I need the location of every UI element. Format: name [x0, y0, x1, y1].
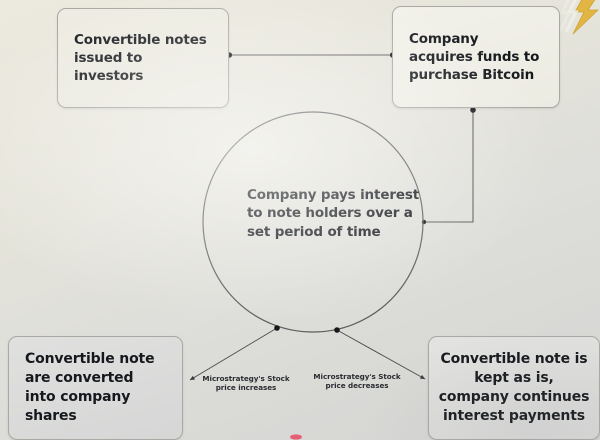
node-company-pays-interest[interactable]: Company pays interest to note holders ov…: [247, 186, 422, 241]
connector-dot-topright-bottom: [470, 107, 476, 113]
node-note-kept-as-is[interactable]: Convertible note is kept as is, company …: [428, 336, 600, 440]
edge-label-stock-price-increases: Microstrategy's Stock price increases: [197, 374, 295, 392]
connector-circle-to-bottomleft: [190, 328, 277, 380]
connector-dot-circle-bottomright: [334, 327, 340, 333]
node-company-acquires-funds[interactable]: Company acquires funds to purchase Bitco…: [392, 6, 560, 108]
node-convertible-notes-issued[interactable]: Convertible notes issued to investors: [57, 8, 229, 108]
connector-dot-circle-bottomleft: [274, 325, 280, 331]
node-converted-into-shares[interactable]: Convertible note are converted into comp…: [8, 336, 183, 440]
connector-dot-circle-right: [422, 220, 426, 224]
red-marker-dot: [290, 434, 302, 439]
connector-topright-to-circle: [424, 110, 473, 222]
edge-label-stock-price-decreases: Microstrategy's Stock price decreases: [308, 372, 406, 390]
lightning-bolt-icon: [560, 0, 600, 34]
diagram-canvas: Convertible notes issued to investors Co…: [0, 0, 600, 440]
